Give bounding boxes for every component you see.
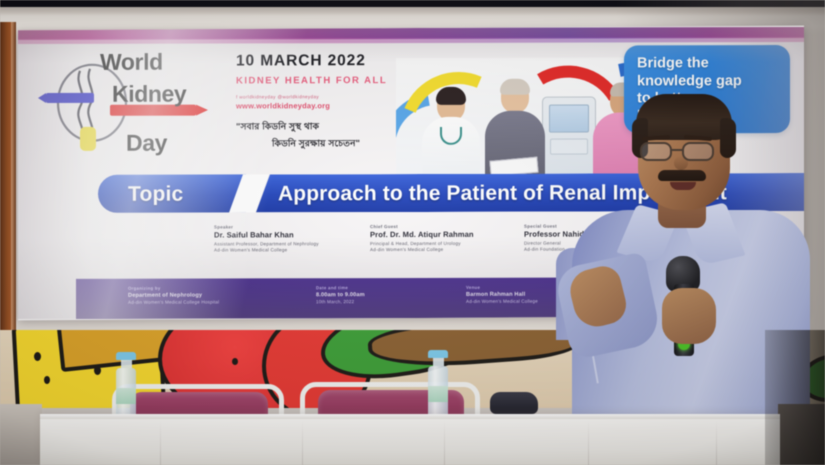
banner-date: 10 MARCH 2022 — [236, 52, 411, 70]
tablecloth-crease — [444, 420, 445, 465]
banner-url: www.worldkidneyday.org — [236, 101, 411, 110]
credit-chief-guest-line1: Principal & Head, Department of Urology — [370, 241, 474, 246]
speaker-nose — [674, 156, 688, 170]
speaker-mouth — [670, 182, 696, 190]
mural-dot — [94, 366, 101, 375]
footer-venue-role: Venue — [466, 285, 538, 290]
footer-organizer-role: Organizing by — [128, 286, 219, 291]
logo-line-day: Day — [126, 132, 186, 155]
callout-line-1: Bridge the — [637, 55, 777, 73]
banner-bangla-line1: "সবার কিডনি সুস্থ থাক — [236, 119, 411, 134]
bottle-cap — [116, 352, 136, 360]
water-bottle-right — [428, 350, 448, 424]
tablecloth-crease — [160, 420, 161, 465]
speaker-right-hand — [662, 288, 716, 344]
bottle-label — [116, 388, 136, 404]
banner-slogan: KIDNEY HEALTH FOR ALL — [236, 75, 411, 86]
table-dark-object — [490, 392, 538, 414]
head-table — [40, 414, 780, 465]
ribbon-topic-label: Topic — [128, 183, 183, 207]
bottle-cap — [428, 350, 448, 358]
floor-left — [0, 404, 42, 465]
footer-venue-line2: Ad-din Women's Medical College — [466, 299, 538, 304]
photo-scene: World Kidney Day 10 MARCH 2022 KIDNEY HE… — [0, 0, 825, 465]
banner-date-block: 10 MARCH 2022 KIDNEY HEALTH FOR ALL f wo… — [236, 52, 411, 151]
mural-dot — [232, 358, 238, 365]
footer-organizer-line2: Ad-din Women's Medical College Hospital — [128, 300, 219, 305]
speaker-glasses-left-lens — [640, 142, 672, 161]
tablecloth-crease — [716, 420, 717, 465]
footer-datetime-role: Date and time — [316, 285, 365, 290]
pillar-highlight — [11, 22, 16, 340]
logo-wordmark: World Kidney Day — [100, 51, 186, 155]
credit-speaker-role: Speaker — [214, 224, 319, 229]
tablecloth-fold — [40, 414, 780, 419]
bottle-neck — [121, 360, 132, 368]
credit-speaker-line2: Ad-din Women's Medical College — [214, 247, 319, 252]
callout-line-2: knowledge gap — [637, 73, 777, 91]
footer-venue: Venue Barmon Rahman Hall Ad-din Women's … — [466, 285, 538, 304]
credit-speaker-line1: Assistant Professor, Department of Nephr… — [214, 241, 319, 246]
banner-top-stripe-secondary — [18, 37, 804, 44]
credit-speaker-name: Dr. Saiful Bahar Khan — [214, 230, 319, 239]
tablecloth-crease — [588, 420, 589, 465]
speaker-mustache — [658, 170, 706, 181]
footer-datetime-line2: 10th March, 2022 — [316, 299, 365, 304]
speaker-hair-right — [720, 118, 736, 158]
banner-bangla-line2: কিডনি সুরক্ষায় সচেতন" — [272, 136, 411, 151]
credit-chief-guest-name: Prof. Dr. Md. Atiqur Rahman — [370, 230, 474, 239]
doctor-hair — [436, 87, 466, 105]
montage-person-nurse — [482, 79, 548, 183]
footer-venue-line1: Barmon Rahman Hall — [466, 292, 538, 298]
footer-datetime: Date and time 8.00am to 9.00am 10th Marc… — [316, 285, 365, 304]
logo-line-world: World — [100, 51, 186, 74]
world-kidney-day-logo: World Kidney Day — [36, 46, 226, 156]
banner-social: f worldkidneyday @worldkidneyday — [236, 94, 411, 99]
mural-dot — [44, 376, 50, 384]
footer-datetime-line1: 8.00am to 9.00am — [316, 292, 365, 298]
dark-corner-shadow — [765, 330, 825, 465]
credit-speaker: Speaker Dr. Saiful Bahar Khan Assistant … — [214, 224, 319, 252]
credit-chief-guest-line2: Ad-din Women's Medical College — [370, 247, 474, 252]
tablecloth-crease — [302, 420, 303, 465]
logo-line-kidney: Kidney — [112, 83, 186, 106]
speaker-glasses-bridge — [672, 149, 682, 151]
mural-dot — [34, 352, 41, 361]
speaker-hair — [636, 94, 732, 140]
bottle-label — [428, 386, 448, 402]
footer-organizer: Organizing by Department of Nephrology A… — [128, 286, 219, 305]
footer-organizer-line1: Department of Nephrology — [128, 293, 219, 299]
nurse-hair — [500, 79, 530, 95]
bottle-neck — [433, 358, 444, 366]
montage-person-doctor — [420, 87, 482, 183]
credit-chief-guest-role: Chief Guest — [370, 224, 474, 229]
credit-chief-guest: Chief Guest Prof. Dr. Md. Atiqur Rahman … — [370, 224, 474, 252]
